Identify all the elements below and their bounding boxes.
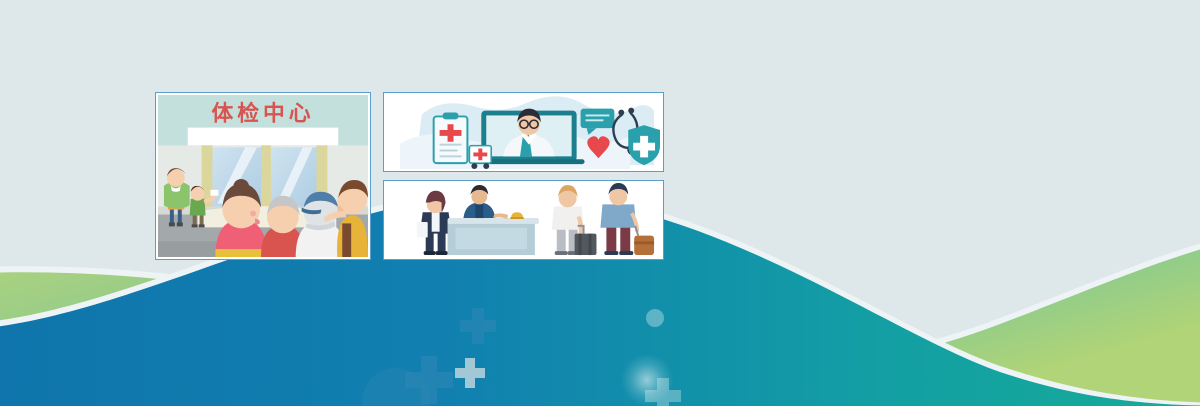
reception-desk-illustration[interactable] — [383, 180, 664, 260]
glow-dot-decoration — [621, 354, 673, 406]
glow-dot-decoration — [646, 309, 664, 327]
signboard-blank-banner — [188, 128, 339, 146]
stethoscope-earpiece — [628, 108, 634, 114]
reception-desk-artwork — [386, 183, 661, 257]
signboard-title: 体检中心 — [212, 101, 315, 127]
health-center-artwork: 体检中心 — [158, 95, 368, 257]
illustration-collage: 体检中心 — [155, 92, 510, 262]
clipboard-icon — [434, 113, 468, 164]
banner-canvas: 体检中心 — [0, 0, 1200, 406]
stethoscope-earpiece — [618, 110, 624, 116]
reception-counter — [448, 218, 539, 255]
telemedicine-artwork — [386, 95, 661, 169]
building-pillar — [261, 145, 271, 210]
held-folder — [417, 222, 428, 238]
health-examination-center-illustration[interactable]: 体检中心 — [155, 92, 371, 260]
telemedicine-illustration[interactable] — [383, 92, 664, 172]
